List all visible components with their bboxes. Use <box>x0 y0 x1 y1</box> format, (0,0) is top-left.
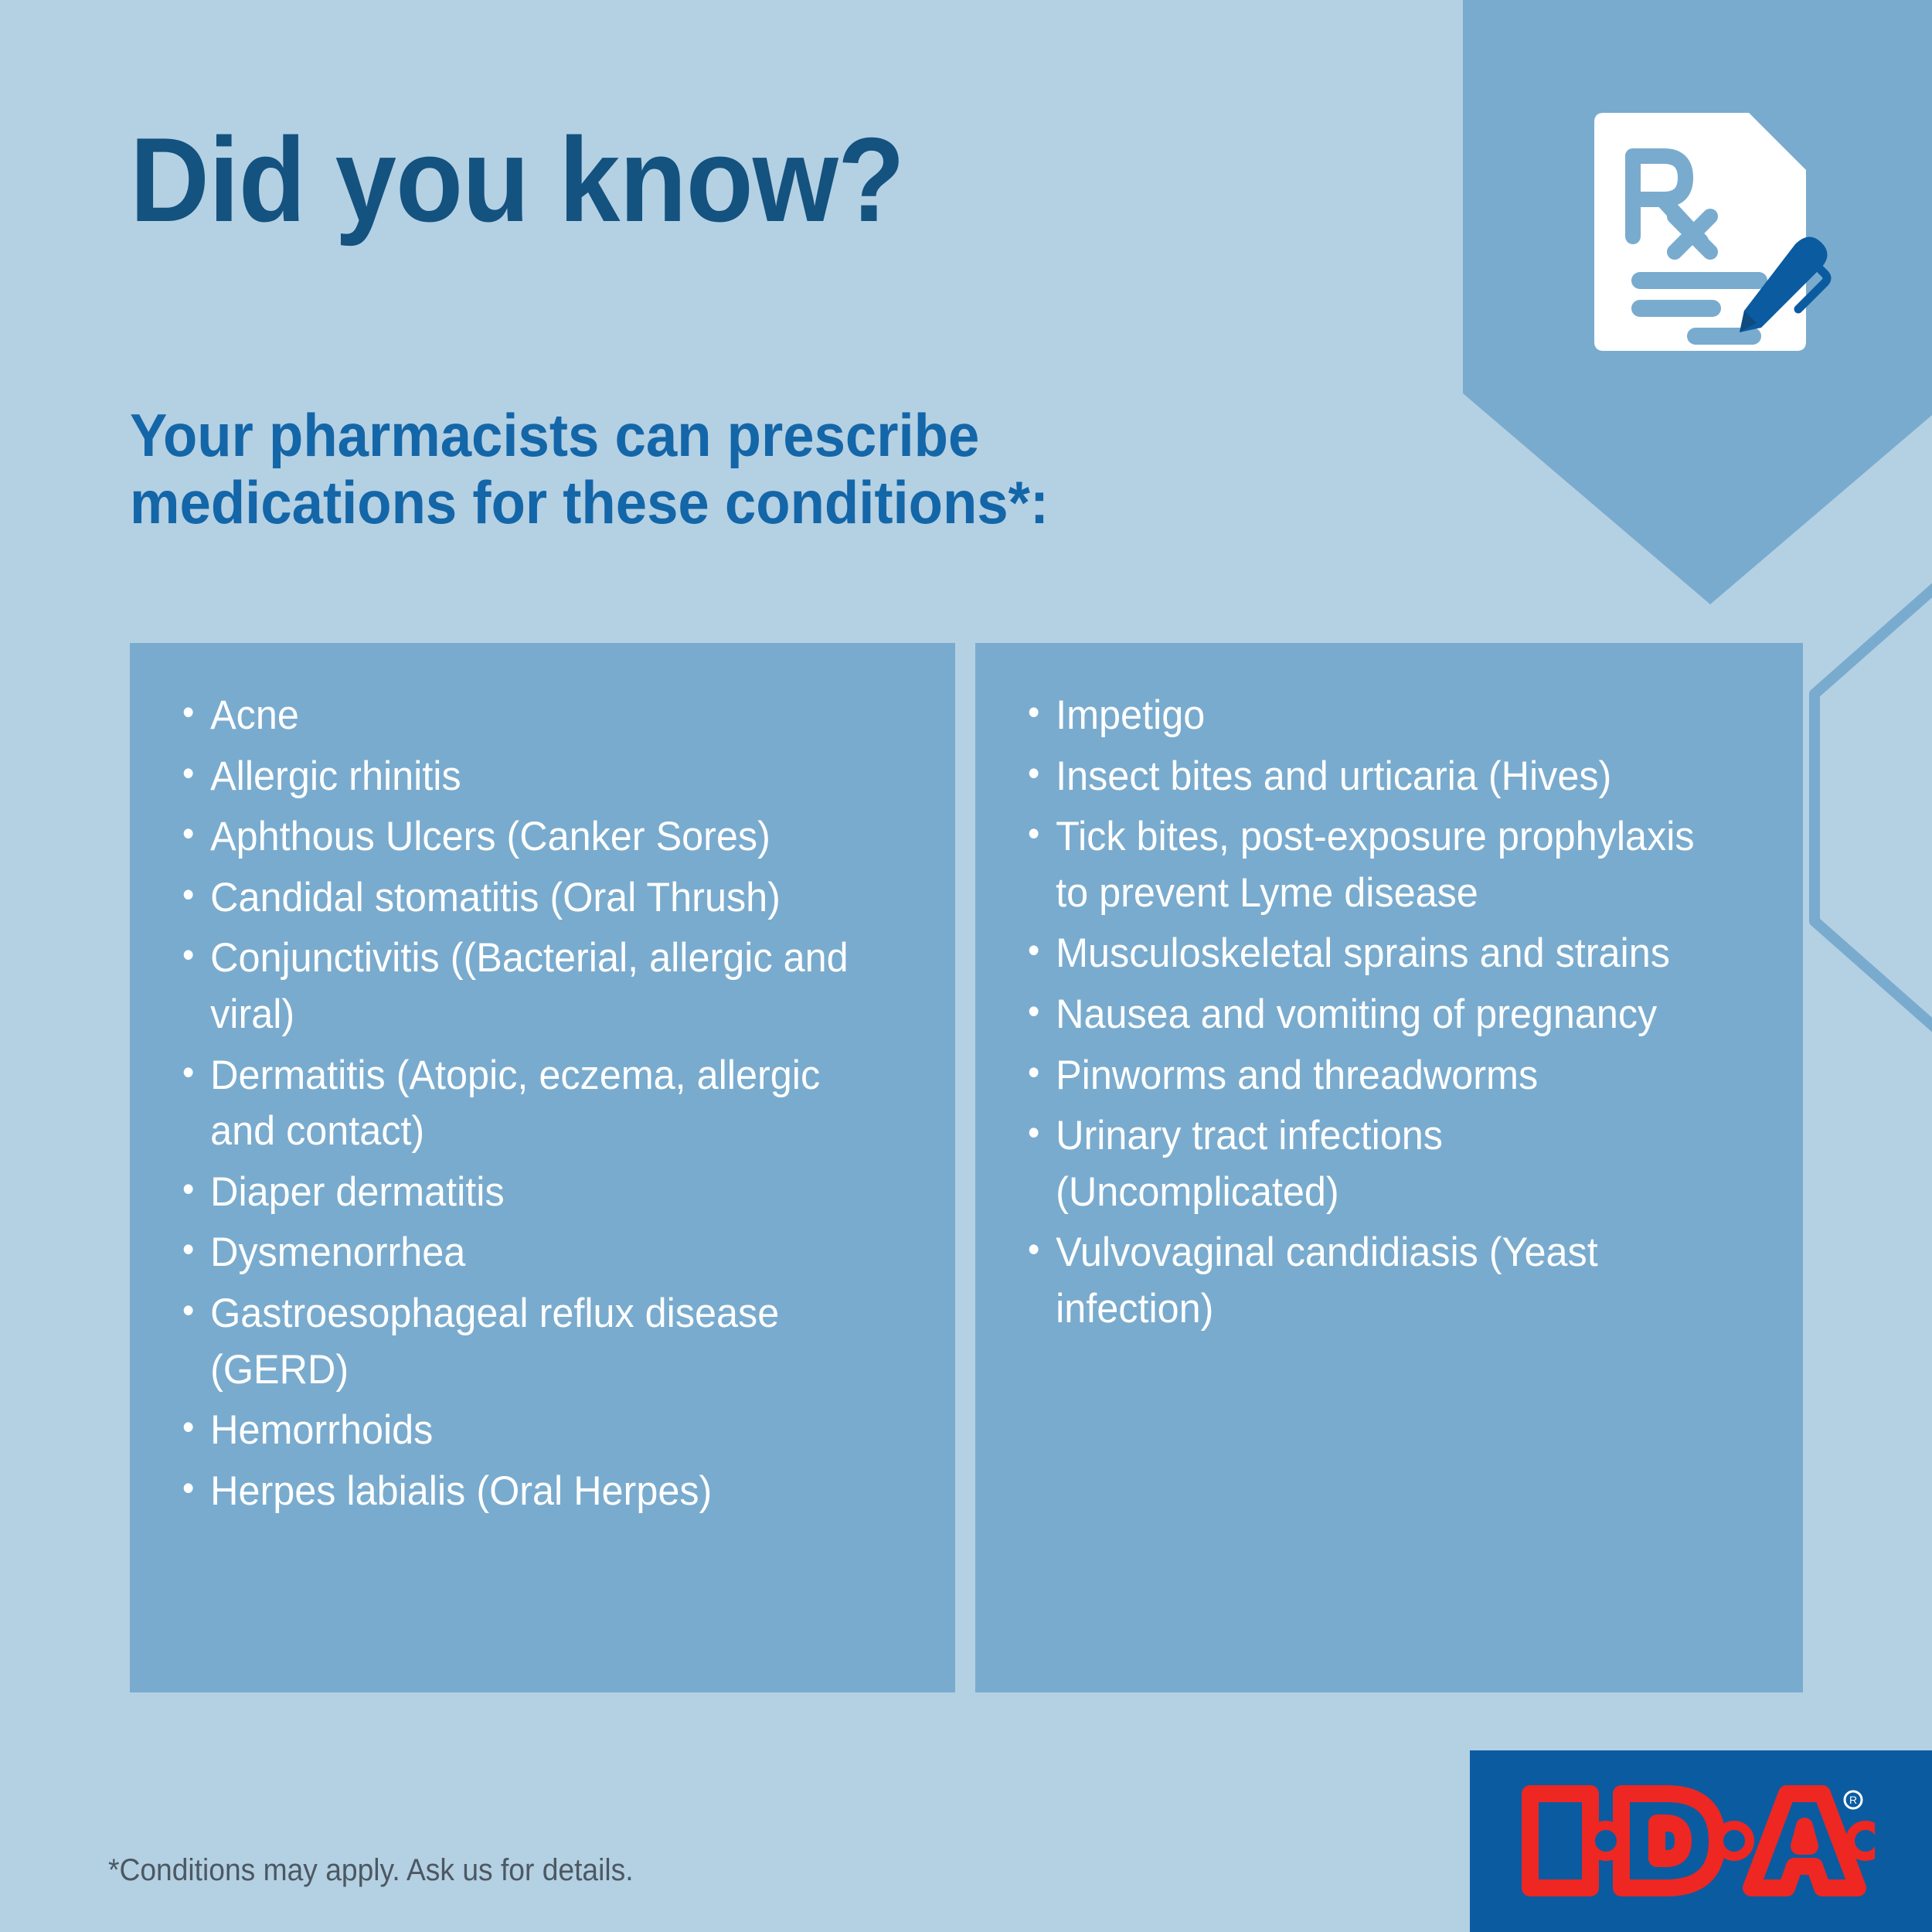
page-subtitle: Your pharmacists can prescribe medicatio… <box>130 402 1049 537</box>
list-item: Urinary tract infections (Uncomplicated) <box>1028 1108 1735 1220</box>
list-item: Pinworms and threadworms <box>1028 1048 1735 1104</box>
list-item: Candidal stomatitis (Oral Thrush) <box>182 870 887 927</box>
list-item: Diaper dermatitis <box>182 1165 887 1221</box>
conditions-list-left: Acne Allergic rhinitis Aphthous Ulcers (… <box>130 643 955 1520</box>
page-subtitle-line-1: Your pharmacists can prescribe <box>130 402 1049 469</box>
rx-prescription-document-icon <box>1588 108 1835 355</box>
infographic-poster: Did you know? Your pharmacists can presc… <box>0 0 1932 1932</box>
list-item: Impetigo <box>1028 688 1735 744</box>
list-item: Herpes labialis (Oral Herpes) <box>182 1464 887 1520</box>
list-item: Conjunctivitis ((Bacterial, allergic and… <box>182 930 887 1043</box>
list-item: Gastroesophageal reflux disease (GERD) <box>182 1286 887 1398</box>
list-item: Dysmenorrhea <box>182 1225 887 1281</box>
list-item: Tick bites, post-exposure prophylaxis to… <box>1028 809 1735 921</box>
list-item: Acne <box>182 688 887 744</box>
list-item: Vulvovaginal candidiasis (Yeast infectio… <box>1028 1225 1735 1337</box>
ida-logo: R <box>1470 1750 1932 1932</box>
list-item: Aphthous Ulcers (Canker Sores) <box>182 809 887 866</box>
list-item: Allergic rhinitis <box>182 749 887 805</box>
footnote-disclaimer: *Conditions may apply. Ask us for detail… <box>108 1853 634 1888</box>
conditions-card-left: Acne Allergic rhinitis Aphthous Ulcers (… <box>130 643 955 1692</box>
list-item: Hemorrhoids <box>182 1403 887 1459</box>
list-item: Dermatitis (Atopic, eczema, allergic and… <box>182 1048 887 1160</box>
svg-text:R: R <box>1849 1794 1857 1806</box>
registered-trademark-icon: R <box>1845 1791 1862 1808</box>
page-subtitle-line-2: medications for these conditions*: <box>130 469 1049 536</box>
list-item: Nausea and vomiting of pregnancy <box>1028 987 1735 1043</box>
hexagon-outline-decoration <box>1807 570 1932 1045</box>
page-title: Did you know? <box>130 120 904 240</box>
conditions-list-right: Impetigo Insect bites and urticaria (Hiv… <box>975 643 1803 1338</box>
list-item: Musculoskeletal sprains and strains <box>1028 926 1735 982</box>
list-item: Insect bites and urticaria (Hives) <box>1028 749 1735 805</box>
conditions-card-right: Impetigo Insect bites and urticaria (Hiv… <box>975 643 1803 1692</box>
